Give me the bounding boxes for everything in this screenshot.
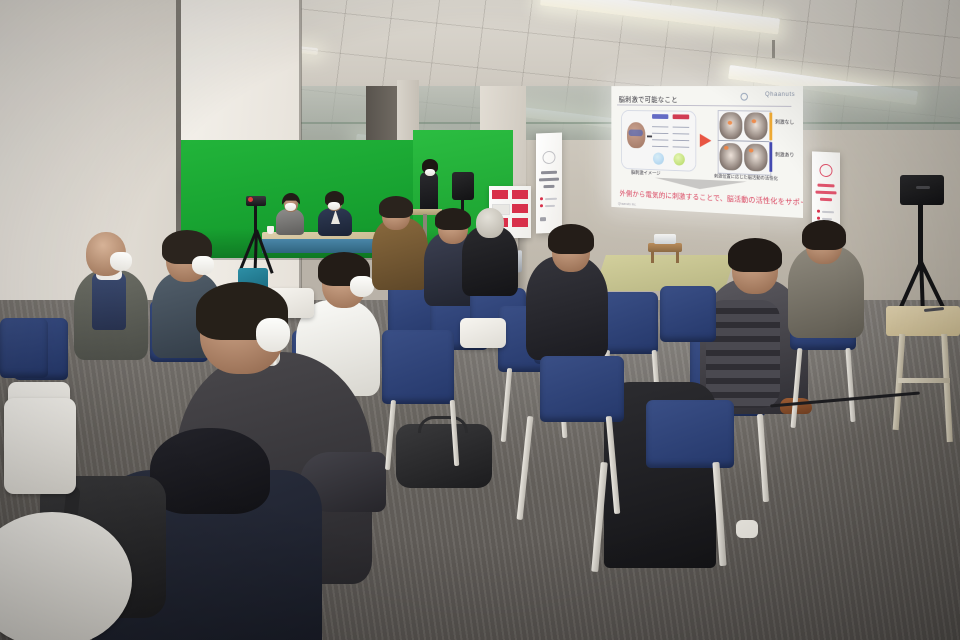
scan-label-top: 刺激なし bbox=[775, 119, 794, 126]
banner-left-logo-icon bbox=[543, 151, 556, 164]
side-table-crossbar bbox=[898, 378, 950, 383]
chair-back-9[interactable] bbox=[382, 330, 454, 404]
brain-scan-1 bbox=[719, 112, 742, 140]
slide-title: 脳刺激で可能なこと bbox=[619, 94, 678, 105]
attendee-1-vest bbox=[92, 272, 126, 330]
panel-table-front bbox=[262, 239, 384, 253]
duffel-bag-floor bbox=[396, 424, 492, 488]
banner-right-line3 bbox=[820, 198, 832, 202]
ceiling-sprinkler bbox=[772, 40, 775, 58]
banner-right-line2 bbox=[816, 191, 837, 195]
attendee-8-head bbox=[476, 208, 504, 238]
projection-screen: 脳刺激で可能なこと Qhaanuts 脳刺激イメージ bbox=[611, 86, 803, 218]
standing-presenter-mask bbox=[425, 169, 435, 176]
banner-left: OSAKA INNOVATION HUB bbox=[536, 133, 562, 234]
sponsor-logo-1 bbox=[492, 190, 508, 199]
chair-back-15[interactable] bbox=[660, 286, 716, 342]
connector-line bbox=[647, 135, 652, 137]
attendee-10-puffer bbox=[706, 300, 780, 408]
banner-left-sub-2 bbox=[545, 205, 555, 207]
brain-scan-3 bbox=[719, 143, 742, 171]
banner-left-line1 bbox=[541, 171, 557, 175]
banner-right-bullet-1 bbox=[817, 210, 820, 213]
attendee-5-head bbox=[150, 428, 270, 514]
brain-scan-grid bbox=[718, 110, 772, 176]
banner-left-bullet-1 bbox=[540, 197, 543, 200]
attendee-11-hair bbox=[802, 220, 846, 250]
sponsor-logo-2 bbox=[512, 190, 528, 199]
banner-left-sub-3 bbox=[540, 217, 546, 221]
brain-scan-4 bbox=[744, 143, 767, 171]
slide-diagram-left bbox=[621, 110, 696, 172]
demo-device-box bbox=[654, 234, 676, 244]
attendee-9-hair bbox=[548, 224, 594, 254]
side-table bbox=[886, 306, 960, 336]
tissue-on-floor bbox=[736, 520, 758, 538]
waveform-right bbox=[673, 123, 690, 148]
result-circle-blue bbox=[653, 152, 664, 165]
attendee-7-hair bbox=[435, 208, 471, 230]
banner-right-line1 bbox=[818, 184, 835, 188]
banner-right-logo-icon bbox=[820, 164, 833, 178]
brain-scan-2 bbox=[744, 112, 767, 140]
tripod-column bbox=[254, 206, 257, 232]
paper-cup bbox=[267, 226, 274, 234]
presentation-slide: 脳刺激で可能なこと Qhaanuts 脳刺激イメージ bbox=[611, 86, 803, 218]
attendee-4-mask bbox=[256, 318, 290, 352]
tag-red bbox=[673, 114, 690, 119]
conference-room-photo: 脳刺激で可能なこと Qhaanuts 脳刺激イメージ bbox=[0, 0, 960, 640]
stimulation-band-icon bbox=[629, 129, 643, 136]
scan-label-bottom: 刺激あり bbox=[775, 151, 794, 159]
camera-record-light-icon bbox=[248, 197, 253, 202]
activation-spot-1 bbox=[728, 121, 733, 125]
sponsor-logo-4 bbox=[512, 204, 528, 213]
demo-stool-leg-2 bbox=[676, 251, 679, 263]
banner-left-bullet-2 bbox=[540, 204, 543, 207]
scale-bar-bottom bbox=[769, 142, 772, 172]
result-circle-green bbox=[674, 153, 685, 166]
standing-presenter-body bbox=[420, 172, 438, 212]
activation-spot-4 bbox=[749, 148, 754, 152]
demo-stool-leg-1 bbox=[651, 251, 654, 263]
pa-speaker-right-grille-icon bbox=[916, 186, 930, 189]
attendee-2-mask bbox=[192, 256, 214, 275]
banner-right-sub-1 bbox=[822, 211, 834, 214]
panelist-2-mask bbox=[328, 202, 340, 210]
flow-arrow-icon bbox=[700, 134, 712, 148]
chair-back-17[interactable] bbox=[540, 356, 624, 422]
scale-bar-top bbox=[769, 113, 772, 141]
activation-spot-3 bbox=[724, 146, 729, 150]
brand-logo-icon bbox=[740, 92, 747, 100]
duffel-bag-handle bbox=[418, 416, 468, 433]
pa-speaker-right bbox=[900, 175, 944, 205]
attendee-10-hair bbox=[728, 238, 782, 272]
attendee-6-hair bbox=[379, 196, 413, 218]
chair-back-16[interactable] bbox=[646, 400, 734, 468]
pa-speaker-left bbox=[452, 172, 474, 200]
sponsor-logo-6 bbox=[512, 218, 528, 227]
tag-blue bbox=[652, 114, 668, 119]
attendee-1-mask bbox=[110, 252, 132, 271]
panelist-1-mask bbox=[285, 203, 296, 211]
chair-back-5[interactable] bbox=[0, 318, 48, 378]
attendee-3-mask bbox=[350, 276, 374, 297]
panelist-1-body bbox=[276, 209, 304, 235]
tablet-arm-10[interactable] bbox=[460, 318, 506, 348]
slide-title-rule bbox=[617, 104, 791, 106]
slide-brand: Qhaanuts bbox=[765, 91, 795, 98]
waveform-left bbox=[652, 122, 668, 147]
banner-left-line2 bbox=[539, 178, 559, 182]
banner-left-line3 bbox=[544, 185, 555, 188]
tablet-arm-5[interactable] bbox=[4, 398, 76, 494]
slide-footer: Qhaanuts Inc. bbox=[618, 202, 637, 207]
slide-bottom-message: 外側から電気的に刺激することで、脳活動の活性化をサポート bbox=[620, 188, 794, 207]
activation-spot-2 bbox=[752, 119, 757, 123]
slide-caption-left: 脳刺激イメージ bbox=[631, 169, 660, 177]
banner-left-sub-1 bbox=[545, 198, 557, 200]
